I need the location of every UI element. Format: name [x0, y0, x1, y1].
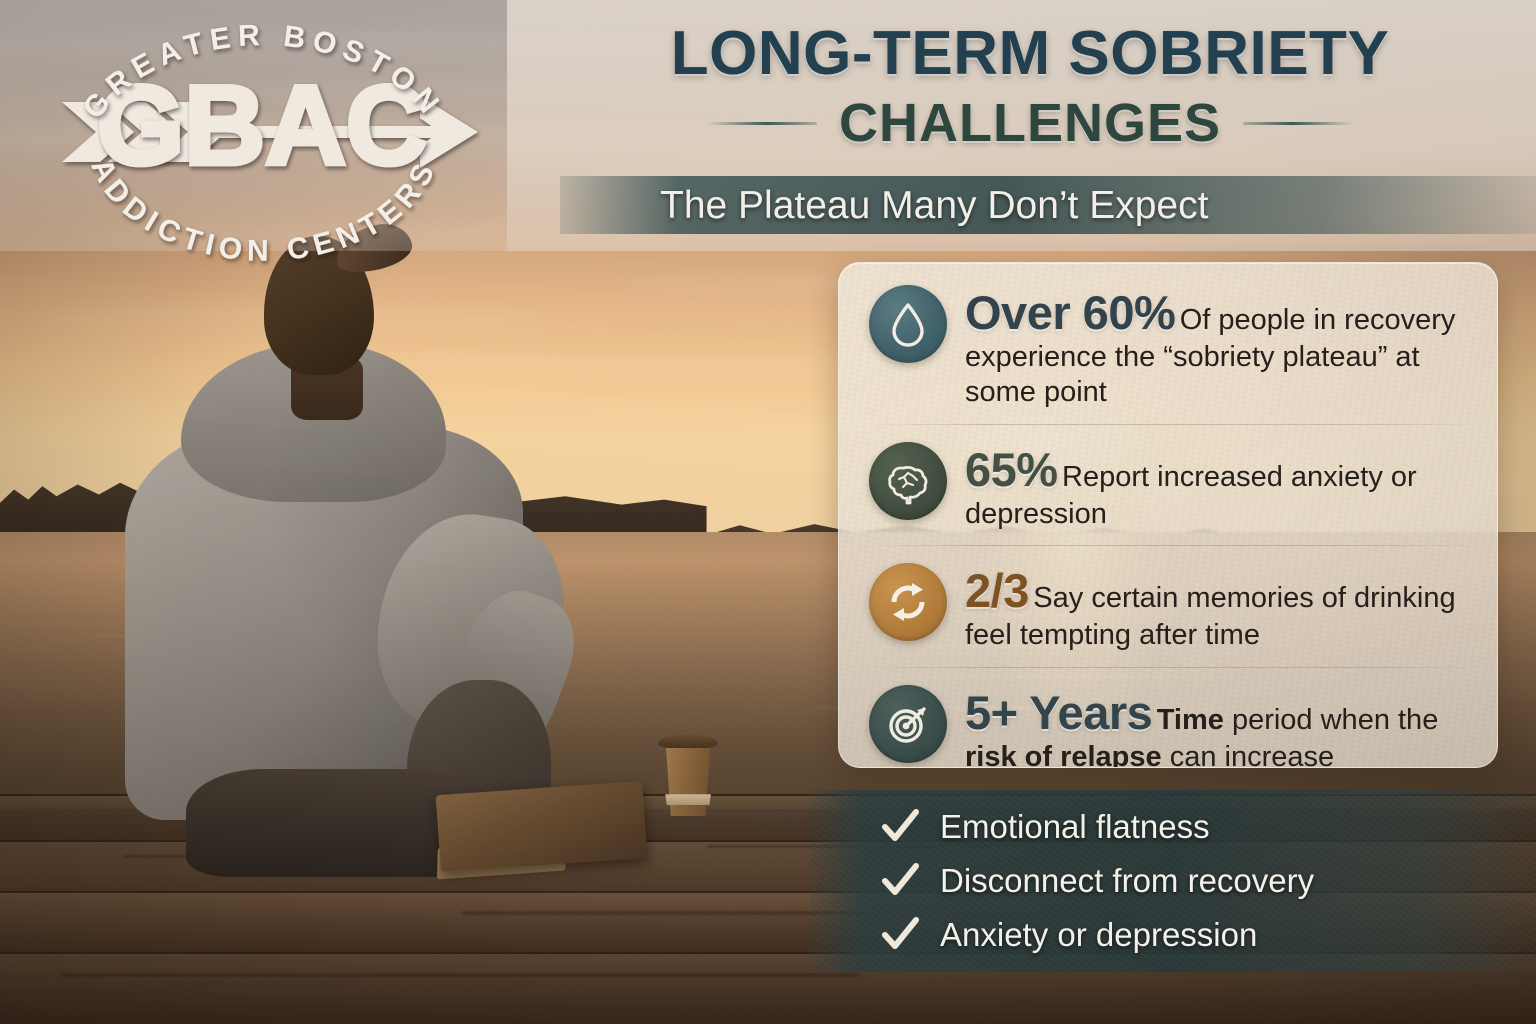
list-item: Anxiety or depression — [880, 908, 1500, 962]
tagline: The Plateau Many Don’t Expect — [660, 182, 1460, 230]
stat-desc-mid: period when the — [1224, 704, 1438, 736]
checkmark-icon — [880, 861, 920, 901]
list-item: Disconnect from recovery — [880, 854, 1500, 908]
stat-desc-bold: risk of relapse — [965, 741, 1162, 768]
cup-lid — [658, 735, 718, 748]
stat-row: Over 60% Of people in recovery experienc… — [839, 267, 1497, 424]
book-object — [435, 781, 647, 872]
title-rule-left — [707, 122, 817, 125]
title-rule-right — [1243, 122, 1353, 125]
checkmark-icon — [880, 915, 920, 955]
book-cover — [435, 781, 647, 872]
subtitle-row: CHALLENGES — [580, 92, 1480, 154]
stat-desc-tail: can increase — [1162, 741, 1335, 768]
list-item-label: Emotional flatness — [940, 808, 1210, 846]
list-item: Emotional flatness — [880, 800, 1500, 854]
gbac-logo[interactable]: GBAC GREATER BOSTON ADDICTION CENTERS — [48, 18, 478, 246]
page-subtitle: CHALLENGES — [839, 92, 1221, 154]
stat-value: Over 60% — [965, 286, 1175, 339]
coffee-cup-object — [660, 732, 715, 816]
checklist: Emotional flatness Disconnect from recov… — [880, 800, 1500, 962]
checkmark-icon — [880, 807, 920, 847]
stat-row: 5+ Years Time period when the risk of re… — [839, 667, 1497, 768]
stat-text: 2/3 Say certain memories of drinking fee… — [965, 561, 1471, 653]
cup-sleeve — [662, 794, 715, 805]
cup-body — [663, 744, 714, 816]
stat-desc-bold: Time — [1157, 704, 1224, 736]
stat-value: 2/3 — [965, 564, 1029, 617]
seated-man-figure — [92, 236, 645, 871]
stat-text: Over 60% Of people in recovery experienc… — [965, 283, 1471, 410]
list-item-label: Disconnect from recovery — [940, 862, 1314, 900]
refresh-cycle-icon — [869, 563, 947, 641]
title-block: LONG-TERM SOBRIETY CHALLENGES — [580, 22, 1480, 154]
stat-value: 5+ Years — [965, 686, 1152, 739]
statistics-card: Over 60% Of people in recovery experienc… — [838, 262, 1498, 768]
stat-text: 5+ Years Time period when the risk of re… — [965, 683, 1471, 768]
statistics-list: Over 60% Of people in recovery experienc… — [839, 263, 1497, 768]
page-title: LONG-TERM SOBRIETY — [580, 22, 1480, 86]
stat-description: Say certain memories of drinking feel te… — [965, 582, 1456, 651]
water-drop-icon — [869, 285, 947, 363]
dock-grain — [61, 973, 860, 977]
stat-row: 65% Report increased anxiety or depressi… — [839, 424, 1497, 546]
infographic-poster: GBAC GREATER BOSTON ADDICTION CENTERS LO… — [0, 0, 1536, 1024]
stat-row: 2/3 Say certain memories of drinking fee… — [839, 545, 1497, 667]
stat-value: 65% — [965, 443, 1058, 496]
target-bullseye-icon — [869, 685, 947, 763]
stat-text: 65% Report increased anxiety or depressi… — [965, 440, 1471, 532]
list-item-label: Anxiety or depression — [940, 916, 1257, 954]
brain-icon — [869, 442, 947, 520]
